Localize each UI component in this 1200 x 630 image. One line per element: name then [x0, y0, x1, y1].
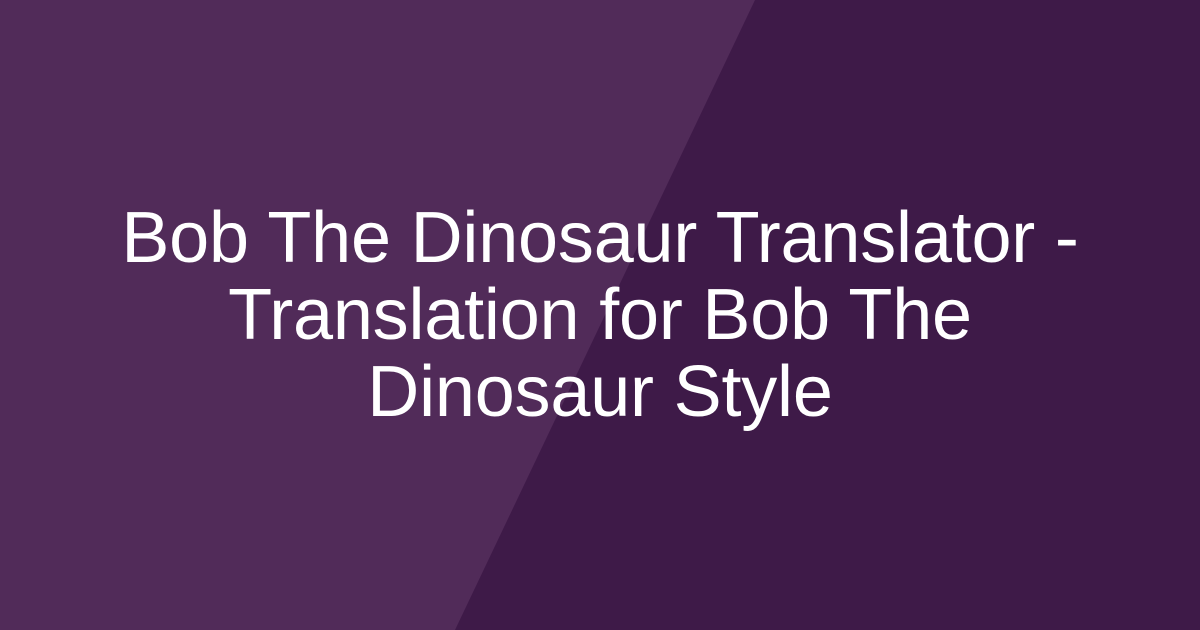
og-preview-card: Bob The Dinosaur Translator - Translatio…: [0, 0, 1200, 630]
title-container: Bob The Dinosaur Translator - Translatio…: [0, 0, 1200, 630]
page-title: Bob The Dinosaur Translator - Translatio…: [95, 200, 1105, 431]
